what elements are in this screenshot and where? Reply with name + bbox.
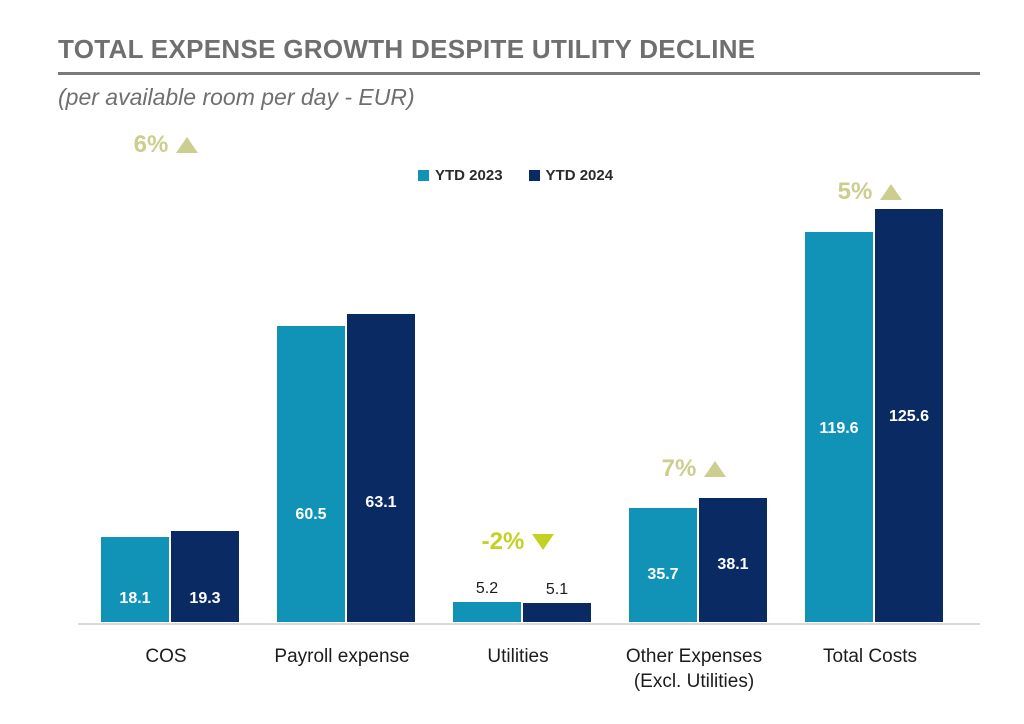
category-label-total-costs: Total Costs bbox=[782, 644, 958, 669]
bar-ytd-2024[interactable]: 38.1 bbox=[698, 497, 768, 623]
bar-value-label: 19.3 bbox=[171, 590, 239, 608]
bar-ytd-2024[interactable]: 63.1 bbox=[346, 313, 416, 623]
plot-area: 6% 18.1 19.3 COS 4% 60.5 63.1 bbox=[0, 0, 1024, 724]
arrow-up-icon bbox=[704, 461, 726, 477]
delta-badge-other-expenses: 7% bbox=[606, 455, 782, 483]
bar-value-label: 38.1 bbox=[699, 556, 767, 574]
bar-value-label: 60.5 bbox=[277, 506, 345, 524]
category-label-payroll: Payroll expense bbox=[254, 644, 430, 669]
bar-value-label: 125.6 bbox=[875, 408, 943, 426]
bar-value-label: 18.1 bbox=[101, 590, 169, 608]
bar-group-utilities: -2% 5.2 5.1 Utilities bbox=[430, 0, 606, 724]
category-label-cos: COS bbox=[78, 644, 254, 669]
chart-page: TOTAL EXPENSE GROWTH DESPITE UTILITY DEC… bbox=[0, 0, 1024, 724]
delta-value: 6% bbox=[134, 131, 169, 159]
category-label-line2: (Excl. Utilities) bbox=[606, 669, 782, 694]
bar-value-label: 5.1 bbox=[523, 581, 591, 599]
bar-ytd-2024[interactable]: 5.1 bbox=[522, 602, 592, 623]
delta-value: 7% bbox=[662, 455, 697, 483]
category-label-line1: Total Costs bbox=[782, 644, 958, 669]
bar-ytd-2023[interactable]: 35.7 bbox=[628, 507, 698, 623]
category-label-utilities: Utilities bbox=[430, 644, 606, 669]
bar-value-label: 119.6 bbox=[805, 420, 873, 438]
category-label-line1: Utilities bbox=[430, 644, 606, 669]
bar-group-total-costs: 5% 119.6 125.6 Total Costs bbox=[782, 0, 958, 724]
bar-ytd-2024[interactable]: 125.6 bbox=[874, 208, 944, 623]
category-label-line1: COS bbox=[78, 644, 254, 669]
bar-ytd-2024[interactable]: 19.3 bbox=[170, 530, 240, 623]
delta-badge-utilities: -2% bbox=[430, 528, 606, 556]
arrow-down-icon bbox=[532, 534, 554, 550]
bar-ytd-2023[interactable]: 18.1 bbox=[100, 536, 170, 623]
category-label-line1: Other Expenses bbox=[606, 644, 782, 669]
delta-value: -2% bbox=[482, 528, 525, 556]
delta-badge-total-costs: 5% bbox=[782, 178, 958, 206]
bar-ytd-2023[interactable]: 5.2 bbox=[452, 601, 522, 623]
bar-ytd-2023[interactable]: 60.5 bbox=[276, 325, 346, 623]
arrow-up-icon bbox=[176, 137, 198, 153]
bar-group-cos: 6% 18.1 19.3 COS bbox=[78, 0, 254, 724]
bar-value-label: 35.7 bbox=[629, 566, 697, 584]
bar-group-other-expenses: 7% 35.7 38.1 Other Expenses (Excl. Utili… bbox=[606, 0, 782, 724]
bar-group-payroll: 4% 60.5 63.1 Payroll expense bbox=[254, 0, 430, 724]
category-label-line1: Payroll expense bbox=[254, 644, 430, 669]
bar-value-label: 63.1 bbox=[347, 494, 415, 512]
delta-value: 5% bbox=[838, 178, 873, 206]
bar-ytd-2023[interactable]: 119.6 bbox=[804, 231, 874, 623]
delta-badge-cos: 6% bbox=[78, 131, 254, 159]
category-label-other-expenses: Other Expenses (Excl. Utilities) bbox=[606, 644, 782, 694]
bar-value-label: 5.2 bbox=[453, 580, 521, 598]
arrow-up-icon bbox=[880, 184, 902, 200]
